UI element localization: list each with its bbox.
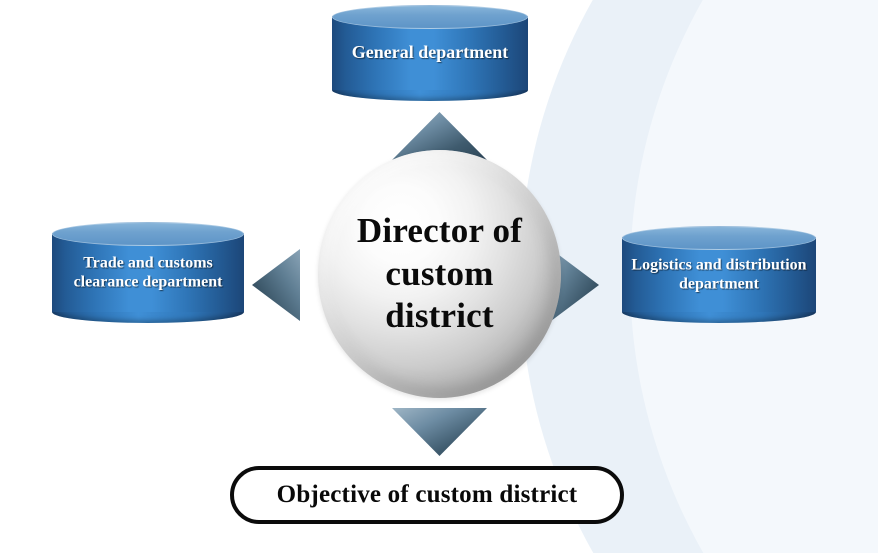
node-objective-of-custom-district[interactable]: Objective of custom district xyxy=(230,466,624,524)
cylinder-top-ellipse xyxy=(622,226,816,250)
node-label: Logistics and distribution department xyxy=(630,255,809,294)
node-general-department[interactable]: General department xyxy=(332,5,528,101)
cylinder-top-ellipse xyxy=(52,222,244,246)
node-label: Trade and customs clearance department xyxy=(60,253,237,292)
node-logistics-and-distribution-department[interactable]: Logistics and distribution department xyxy=(622,226,816,323)
center-node-director-of-custom-district[interactable]: Director of custom district xyxy=(318,150,561,398)
diagram-canvas: General department Trade and customs cle… xyxy=(0,0,878,553)
node-label: General department xyxy=(340,42,520,64)
node-trade-and-customs-clearance-department[interactable]: Trade and customs clearance department xyxy=(52,222,244,323)
node-label: Objective of custom district xyxy=(277,481,578,509)
cylinder-top-ellipse xyxy=(332,5,528,29)
arrow-left-icon xyxy=(252,249,300,321)
arrow-down-icon xyxy=(392,408,487,456)
center-node-label: Director of custom district xyxy=(333,210,547,338)
